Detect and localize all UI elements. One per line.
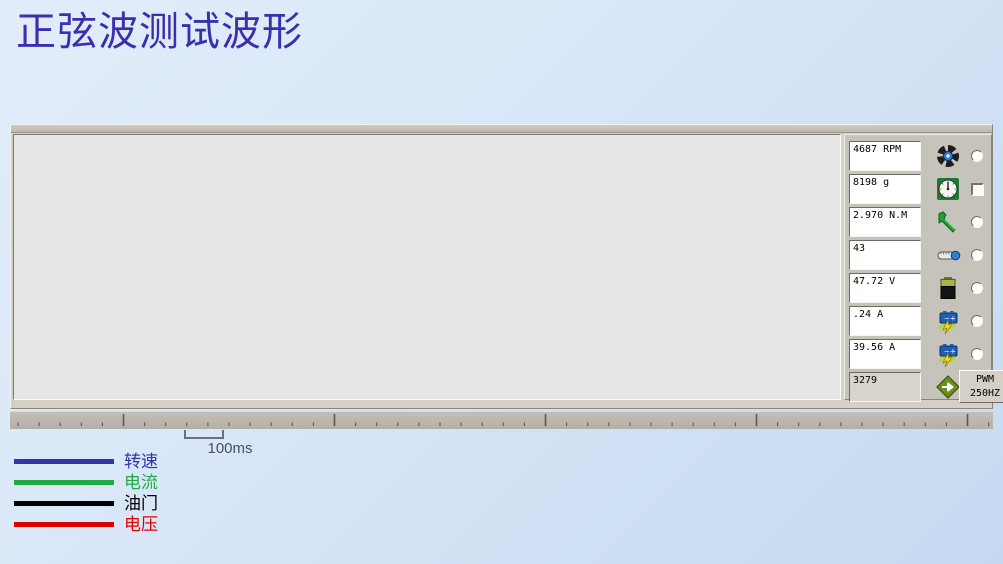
waveform-svg [14,135,840,399]
instrument-window: 4687 RPM8198 g2.970 N.M4347.72 V.24 A−+3… [10,124,993,409]
radio-glyph [971,315,983,327]
readout-row: 8198 g [849,174,989,206]
readout-checkbox[interactable] [971,183,983,195]
battery-bolt-icon: −+ [931,305,965,337]
readout-row: 47.72 V [849,273,989,305]
window-toolbar [11,125,992,133]
radio-glyph [971,348,983,360]
readout-row: .24 A−+ [849,306,989,338]
readout-value-field[interactable]: 8198 g [849,174,921,204]
readout-radio[interactable] [971,282,983,294]
readout-panel: 4687 RPM8198 g2.970 N.M4347.72 V.24 A−+3… [844,134,992,400]
radio-glyph [971,249,983,261]
checkbox-glyph [971,183,984,196]
time-scale-caliper: 100ms [180,430,300,464]
ruler-ticks [10,412,993,429]
readout-row: 3279PWM250HZ [849,372,989,404]
pwm-button-line2: 250HZ [960,387,1003,401]
caliper-bracket-icon [184,430,224,439]
readout-value-field[interactable]: 39.56 A [849,339,921,369]
readout-row: 2.970 N.M [849,207,989,239]
battery-bolt-icon: −+ [931,338,965,370]
readout-value-field: 3279 [849,372,921,402]
legend-label: 转速 [124,451,158,472]
page-title: 正弦波测试波形 [16,8,303,56]
legend-label: 电压 [124,514,158,535]
legend-swatch [14,501,114,506]
readout-radio[interactable] [971,150,983,162]
thermometer-icon [931,239,965,271]
readout-value-field[interactable]: 43 [849,240,921,270]
time-ruler [10,411,993,429]
readout-value-field[interactable]: 4687 RPM [849,141,921,171]
legend-label: 电流 [124,472,158,493]
wrench-icon [931,206,965,238]
pwm-button[interactable]: PWM250HZ [959,370,1003,403]
pwm-button-line1: PWM [960,373,1003,387]
radio-glyph [971,282,983,294]
readout-value-field[interactable]: 47.72 V [849,273,921,303]
readout-row: 4687 RPM [849,141,989,173]
gauge-icon [931,173,965,205]
legend-swatch [14,522,114,527]
svg-text:+: + [950,315,956,323]
readout-radio[interactable] [971,315,983,327]
readout-radio[interactable] [971,249,983,261]
readout-row: 43 [849,240,989,272]
battery-icon [931,272,965,304]
readout-radio[interactable] [971,216,983,228]
legend-label: 油门 [124,493,158,514]
waveform-plot[interactable] [13,134,841,400]
readout-value-field[interactable]: .24 A [849,306,921,336]
fan-icon [931,140,965,172]
readout-radio[interactable] [971,348,983,360]
legend-swatch [14,459,114,464]
radio-glyph [971,150,983,162]
svg-text:+: + [950,348,956,356]
readout-value-field[interactable]: 2.970 N.M [849,207,921,237]
radio-glyph [971,216,983,228]
time-scale-label: 100ms [180,440,280,457]
legend-swatch [14,480,114,485]
readout-row: 39.56 A−+ [849,339,989,371]
